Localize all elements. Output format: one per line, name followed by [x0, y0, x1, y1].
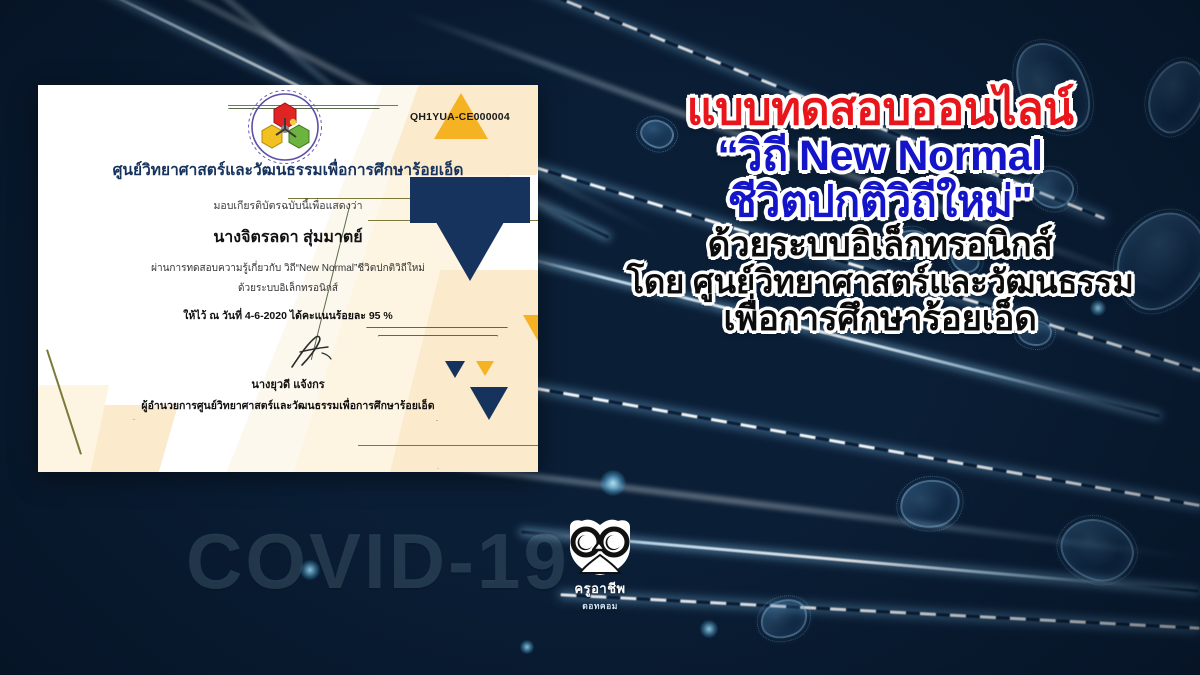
headline-line-3: ชีวิตปกติวิถีใหม่"	[560, 181, 1200, 224]
certificate-signer-role: ผู้อำนวยการศูนย์วิทยาศาสตร์และวัฒนธรรมเพ…	[38, 397, 538, 414]
brand-logo: ครูอาชีพ ดอทคอม	[551, 517, 649, 615]
brand-name: ครูอาชีพ	[551, 578, 649, 599]
covid-watermark: COVID-19	[186, 516, 570, 607]
certificate-signer-name: นางยุวดี แจ้งกร	[38, 375, 538, 393]
certificate-image: QH1YUA-CE000004 ศูนย์วิทยาศาสตร์และวัฒนธ…	[38, 85, 538, 472]
owl-glasses-icon	[562, 517, 638, 577]
headline-line-1: แบบทดสอบออนไลน์	[560, 86, 1200, 131]
headline-line-5: โดย ศูนย์วิทยาศาสตร์และวัฒนธรรม	[560, 265, 1200, 298]
certificate-code: QH1YUA-CE000004	[410, 111, 510, 123]
handwritten-signature-icon	[286, 333, 342, 378]
certificate-award-intro: มอบเกียรติบัตรฉบับนี้เพื่อแสดงว่า	[38, 197, 538, 214]
outline-line	[358, 445, 538, 446]
certificate-decorations: QH1YUA-CE000004 ศูนย์วิทยาศาสตร์และวัฒนธ…	[38, 85, 538, 472]
gold-triangle	[476, 361, 494, 376]
headline-line-6: เพื่อการศึกษาร้อยเอ็ด	[560, 301, 1200, 336]
promo-headline: แบบทดสอบออนไลน์ “วิถี New Normal ชีวิตปก…	[560, 86, 1200, 339]
brand-subtitle: ดอทคอม	[551, 599, 649, 613]
headline-line-4: ด้วยระบบอิเล็กทรอนิกส์	[560, 227, 1200, 262]
certificate-issue-line: ให้ไว้ ณ วันที่ 4-6-2020 ได้คะแนนร้อยละ …	[38, 307, 538, 324]
headline-line-2: “วิถี New Normal	[560, 135, 1200, 178]
science-hexagon-emblem-icon	[246, 88, 324, 166]
certificate-recipient-name: นางจิตรลดา สุ่มมาตย์	[38, 225, 538, 250]
certificate-organization: ศูนย์วิทยาศาสตร์และวัฒนธรรมเพื่อการศึกษา…	[38, 157, 538, 182]
promo-banner: COVID-19	[0, 0, 1200, 675]
certificate-body-line-2: ด้วยระบบอิเล็กทรอนิกส์	[38, 281, 538, 296]
certificate-body-line-1: ผ่านการทดสอบความรู้เกี่ยวกับ วิถี“New No…	[38, 261, 538, 276]
